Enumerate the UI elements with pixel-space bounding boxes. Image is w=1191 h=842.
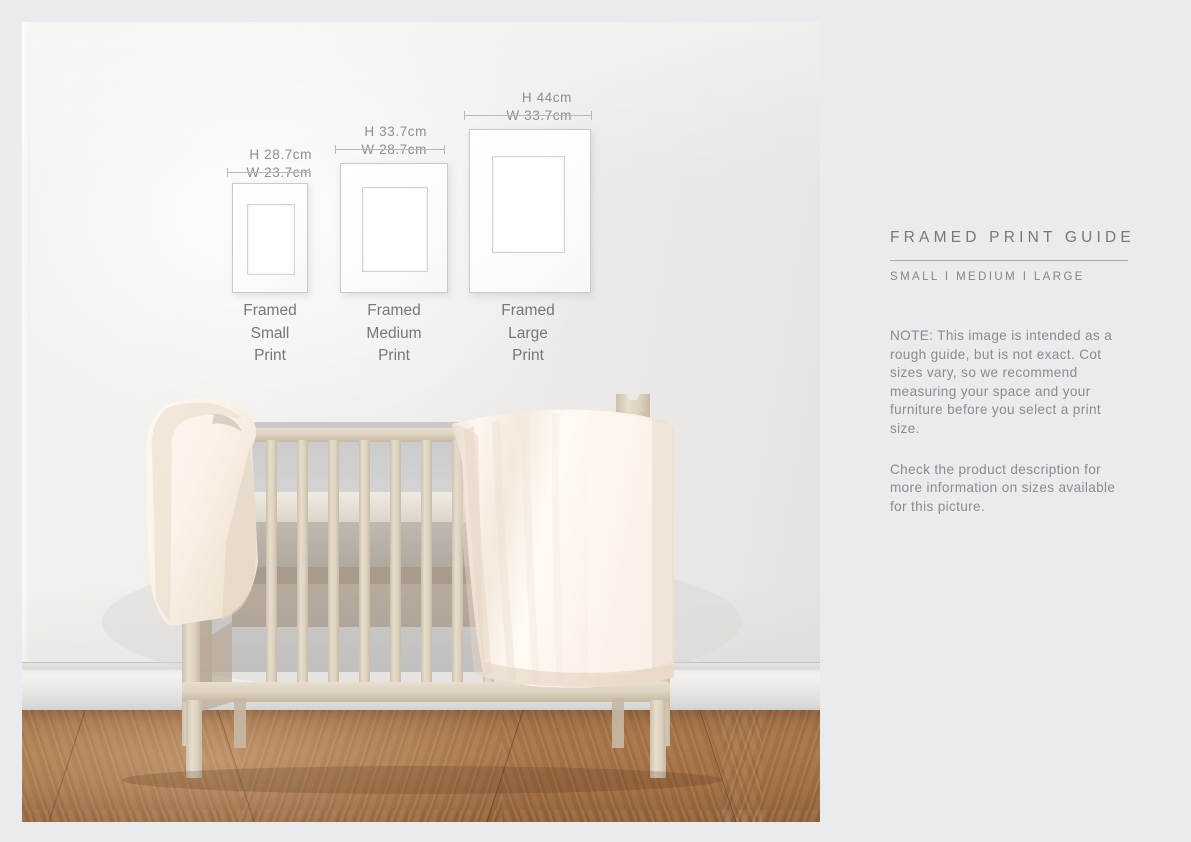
frame-large[interactable] <box>469 129 591 293</box>
frame-small-print-area <box>247 204 295 275</box>
panel-title: FRAMED PRINT GUIDE <box>890 228 1138 248</box>
framed-print-guide-page: H 28.7cm W 23.7cm Framed Small Print H 3… <box>0 0 1191 842</box>
nursery-photo: H 28.7cm W 23.7cm Framed Small Print H 3… <box>22 22 820 822</box>
frame-medium[interactable] <box>340 163 448 293</box>
frame-large-width-dimension-line <box>464 111 592 120</box>
frame-medium-print-area <box>362 187 428 272</box>
frame-medium-caption: Framed Medium Print <box>344 300 444 368</box>
frame-medium-width-dimension-line <box>335 145 445 154</box>
frame-large-caption: Framed Large Print <box>478 300 578 368</box>
panel-subtitle: SMALL I MEDIUM I LARGE <box>890 269 1138 285</box>
panel-divider <box>890 260 1128 261</box>
panel-note-secondary: Check the product description for more i… <box>890 461 1122 517</box>
guide-text-panel: FRAMED PRINT GUIDE SMALL I MEDIUM I LARG… <box>890 228 1138 538</box>
frame-small-caption: Framed Small Print <box>220 300 320 368</box>
wood-floor <box>22 700 820 822</box>
panel-note-primary: NOTE: This image is intended as a rough … <box>890 327 1122 439</box>
wall-corner-edge <box>22 22 30 710</box>
frame-small-width-dimension-line <box>227 168 310 177</box>
frame-large-print-area <box>492 156 565 253</box>
skirting-top-edge <box>22 662 820 663</box>
skirting-board <box>22 662 820 710</box>
frame-small[interactable] <box>232 183 308 293</box>
